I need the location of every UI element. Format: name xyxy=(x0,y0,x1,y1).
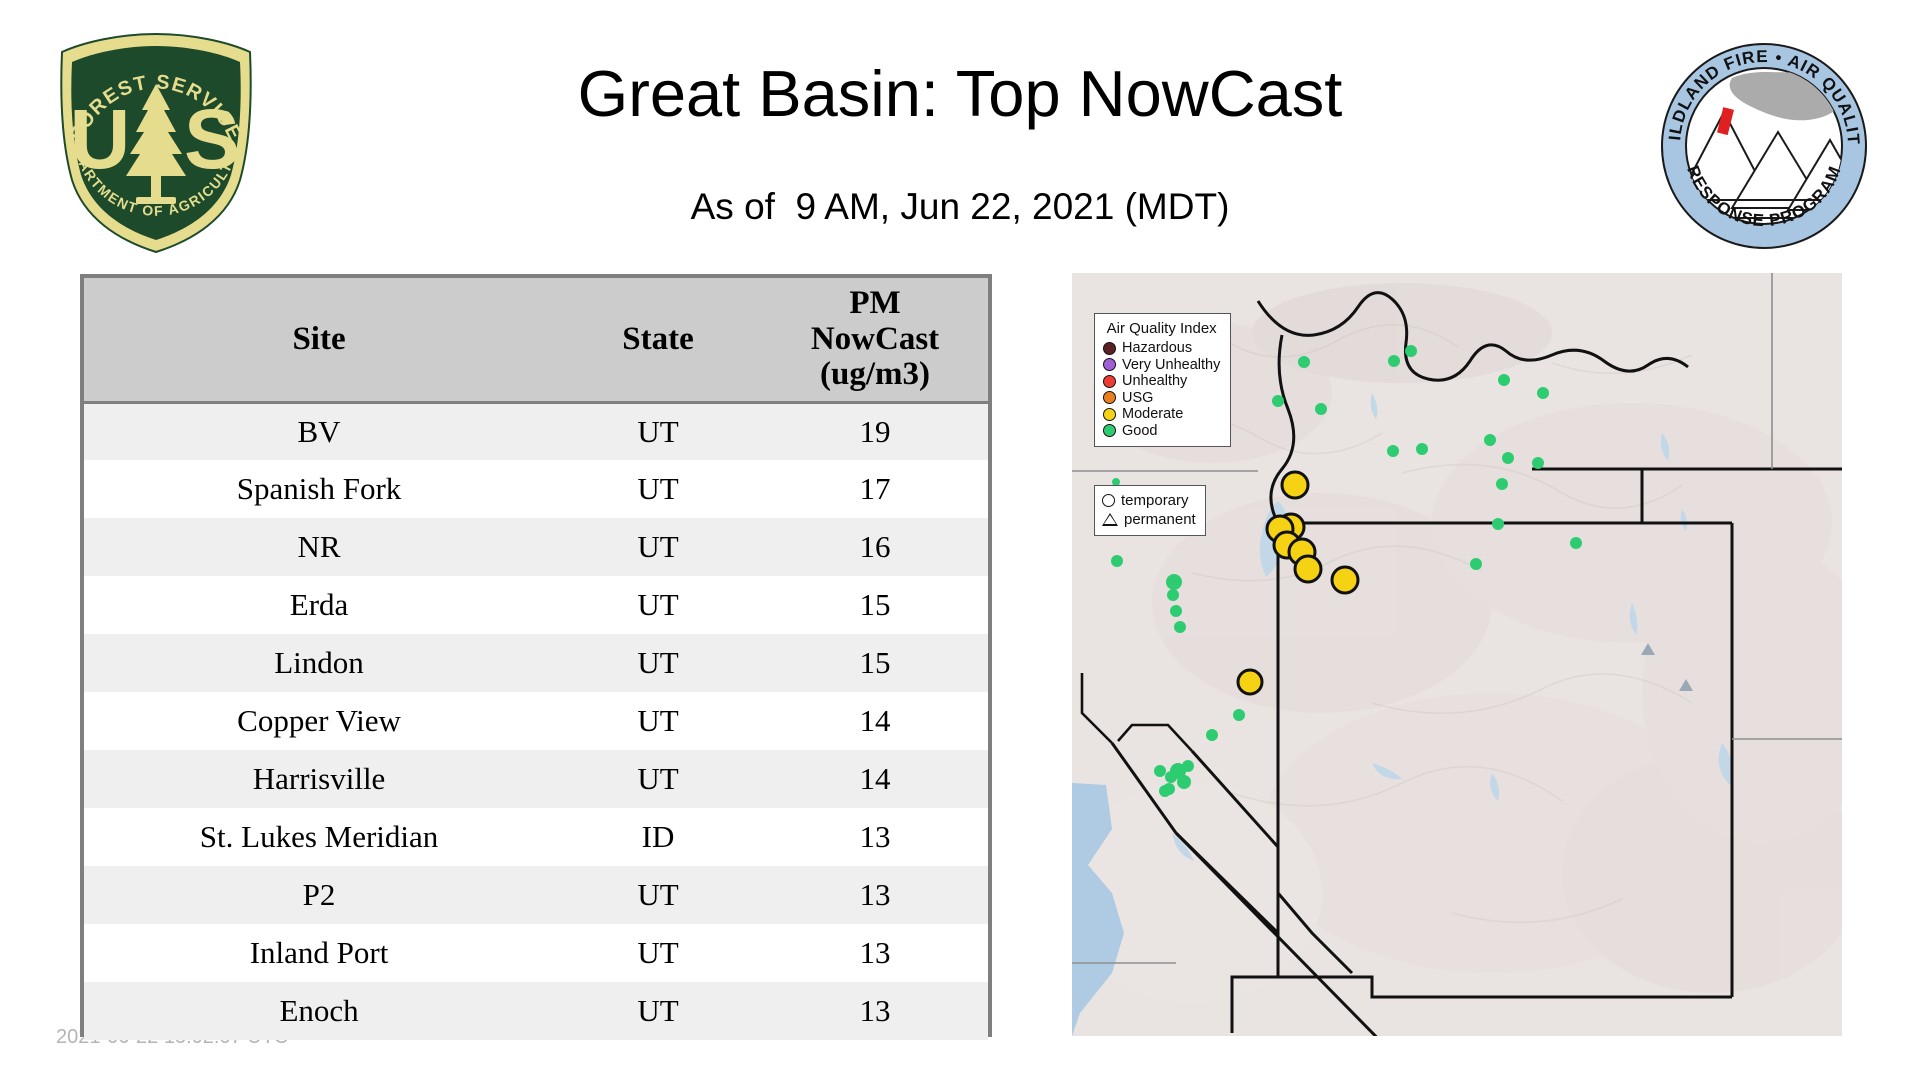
legend-swatch-icon xyxy=(1103,408,1116,421)
presentation-slide: FOREST SERVICE U S DEPARTMENT OF AGRICUL… xyxy=(0,0,1920,1080)
column-header-state: State xyxy=(554,278,762,402)
site-cell: Erda xyxy=(84,576,554,634)
aqi-marker-good[interactable] xyxy=(1298,356,1310,368)
aqi-marker-good[interactable] xyxy=(1388,355,1400,367)
column-header-pm-line1: PM xyxy=(766,286,984,322)
table-row: NRUT16 xyxy=(84,518,988,576)
state-cell: UT xyxy=(554,982,762,1040)
permanent-site-icon xyxy=(1102,513,1118,526)
site-cell: Lindon xyxy=(84,634,554,692)
table-row: BVUT19 xyxy=(84,402,988,460)
legend-row-unhealthy: Unhealthy xyxy=(1103,373,1220,390)
state-cell: UT xyxy=(554,402,762,460)
aqi-marker-good[interactable] xyxy=(1502,452,1514,464)
table-row: St. Lukes MeridianID13 xyxy=(84,808,988,866)
aqi-marker-good[interactable] xyxy=(1154,765,1166,777)
column-header-pm-nowcast: PM NowCast (ug/m3) xyxy=(762,278,988,402)
state-cell: UT xyxy=(554,750,762,808)
aqi-marker-good[interactable] xyxy=(1111,555,1123,567)
aqi-marker-good[interactable] xyxy=(1570,537,1582,549)
legend-label: Unhealthy xyxy=(1122,374,1187,389)
pm-nowcast-cell: 17 xyxy=(762,460,988,518)
site-cell: Spanish Fork xyxy=(84,460,554,518)
aqi-marker-good[interactable] xyxy=(1167,589,1179,601)
table-row: Copper ViewUT14 xyxy=(84,692,988,750)
legend-label: Good xyxy=(1122,424,1157,439)
usfs-shield-logo: FOREST SERVICE U S DEPARTMENT OF AGRICUL… xyxy=(52,28,260,256)
pm-nowcast-cell: 15 xyxy=(762,634,988,692)
aqi-marker-good[interactable] xyxy=(1387,445,1399,457)
state-cell: UT xyxy=(554,576,762,634)
table-row: Spanish ForkUT17 xyxy=(84,460,988,518)
table-row: ErdaUT15 xyxy=(84,576,988,634)
site-cell: St. Lukes Meridian xyxy=(84,808,554,866)
aqi-marker-good[interactable] xyxy=(1496,478,1508,490)
aqi-marker-moderate[interactable] xyxy=(1238,670,1262,694)
aqi-marker-good[interactable] xyxy=(1315,403,1327,415)
aqi-marker-good[interactable] xyxy=(1233,709,1245,721)
legend-swatch-icon xyxy=(1103,391,1116,404)
aqi-marker-moderate[interactable] xyxy=(1295,556,1321,582)
legend-swatch-icon xyxy=(1103,424,1116,437)
wfaqrp-logo: WILDLAND FIRE • AIR QUALITY RESPONSE PRO… xyxy=(1658,40,1870,252)
legend-title: Air Quality Index xyxy=(1103,320,1220,337)
column-header-pm-line3: (ug/m3) xyxy=(766,357,984,393)
site-type-legend: temporary permanent xyxy=(1094,485,1206,536)
state-cell: UT xyxy=(554,518,762,576)
pm-nowcast-cell: 13 xyxy=(762,866,988,924)
column-header-pm-line2: NowCast xyxy=(766,322,984,358)
permanent-site-label: permanent xyxy=(1124,512,1196,527)
pm-nowcast-cell: 14 xyxy=(762,692,988,750)
column-header-site: Site xyxy=(84,278,554,402)
pm-nowcast-cell: 19 xyxy=(762,402,988,460)
pm-nowcast-cell: 15 xyxy=(762,576,988,634)
legend-row-usg: USG xyxy=(1103,390,1220,407)
legend-row-hazardous: Hazardous xyxy=(1103,340,1220,357)
nowcast-table-container: Site State PM NowCast (ug/m3) BVUT19Span… xyxy=(80,274,992,1037)
legend-swatch-icon xyxy=(1103,358,1116,371)
aqi-marker-good[interactable] xyxy=(1159,785,1171,797)
pm-nowcast-cell: 13 xyxy=(762,924,988,982)
nowcast-table: Site State PM NowCast (ug/m3) BVUT19Span… xyxy=(84,278,988,1040)
legend-label: USG xyxy=(1122,391,1153,406)
state-cell: UT xyxy=(554,460,762,518)
table-row: EnochUT13 xyxy=(84,982,988,1040)
legend-items: HazardousVery UnhealthyUnhealthyUSGModer… xyxy=(1103,340,1220,439)
aqi-marker-good[interactable] xyxy=(1170,605,1182,617)
pm-nowcast-cell: 13 xyxy=(762,808,988,866)
state-cell: UT xyxy=(554,866,762,924)
wfaqrp-circle-icon: WILDLAND FIRE • AIR QUALITY RESPONSE PRO… xyxy=(1658,40,1870,252)
aqi-marker-moderate[interactable] xyxy=(1282,472,1308,498)
pm-nowcast-cell: 16 xyxy=(762,518,988,576)
aqi-marker-good[interactable] xyxy=(1470,558,1482,570)
page-subtitle: As of 9 AM, Jun 22, 2021 (MDT) xyxy=(300,186,1620,228)
pm-nowcast-cell: 13 xyxy=(762,982,988,1040)
table-header-row: Site State PM NowCast (ug/m3) xyxy=(84,278,988,402)
aqi-marker-good[interactable] xyxy=(1492,518,1504,530)
table-row: LindonUT15 xyxy=(84,634,988,692)
aqi-marker-good[interactable] xyxy=(1166,574,1182,590)
page-title: Great Basin: Top NowCast xyxy=(300,58,1620,130)
air-quality-index-legend: Air Quality Index HazardousVery Unhealth… xyxy=(1094,313,1231,447)
aqi-marker-good[interactable] xyxy=(1174,621,1186,633)
temporary-site-label: temporary xyxy=(1121,493,1189,508)
aqi-marker-good[interactable] xyxy=(1537,387,1549,399)
table-row: P2UT13 xyxy=(84,866,988,924)
site-cell: Harrisville xyxy=(84,750,554,808)
aqi-marker-good[interactable] xyxy=(1498,374,1510,386)
site-cell: Inland Port xyxy=(84,924,554,982)
site-cell: Enoch xyxy=(84,982,554,1040)
aqi-marker-good[interactable] xyxy=(1177,775,1191,789)
aqi-marker-good[interactable] xyxy=(1416,443,1428,455)
usfs-letter-u: U xyxy=(70,92,131,186)
aqi-marker-good[interactable] xyxy=(1405,345,1417,357)
legend-row-good: Good xyxy=(1103,423,1220,440)
table-row: HarrisvilleUT14 xyxy=(84,750,988,808)
aqi-marker-good[interactable] xyxy=(1206,729,1218,741)
table-body: BVUT19Spanish ForkUT17NRUT16ErdaUT15Lind… xyxy=(84,402,988,1040)
legend-row-temporary: temporary xyxy=(1102,491,1196,510)
aqi-marker-good[interactable] xyxy=(1272,395,1284,407)
aqi-marker-good[interactable] xyxy=(1484,434,1496,446)
site-cell: BV xyxy=(84,402,554,460)
legend-row-moderate: Moderate xyxy=(1103,406,1220,423)
temporary-site-icon xyxy=(1102,494,1115,507)
aqi-marker-good[interactable] xyxy=(1182,760,1194,772)
pm-nowcast-cell: 14 xyxy=(762,750,988,808)
state-cell: UT xyxy=(554,924,762,982)
legend-swatch-icon xyxy=(1103,375,1116,388)
legend-row-permanent: permanent xyxy=(1102,510,1196,529)
legend-label: Moderate xyxy=(1122,407,1183,422)
site-cell: P2 xyxy=(84,866,554,924)
usfs-shield-icon: FOREST SERVICE U S DEPARTMENT OF AGRICUL… xyxy=(52,28,260,256)
legend-row-very-unhealthy: Very Unhealthy xyxy=(1103,357,1220,374)
table-row: Inland PortUT13 xyxy=(84,924,988,982)
site-cell: Copper View xyxy=(84,692,554,750)
state-cell: UT xyxy=(554,692,762,750)
legend-swatch-icon xyxy=(1103,342,1116,355)
aqi-marker-good[interactable] xyxy=(1532,457,1544,469)
state-cell: UT xyxy=(554,634,762,692)
site-cell: NR xyxy=(84,518,554,576)
aqi-marker-moderate[interactable] xyxy=(1332,567,1358,593)
legend-label: Hazardous xyxy=(1122,341,1192,356)
table-header: Site State PM NowCast (ug/m3) xyxy=(84,278,988,402)
great-basin-map[interactable]: Air Quality Index HazardousVery Unhealth… xyxy=(1072,273,1842,1036)
legend-label: Very Unhealthy xyxy=(1122,358,1220,373)
state-cell: ID xyxy=(554,808,762,866)
